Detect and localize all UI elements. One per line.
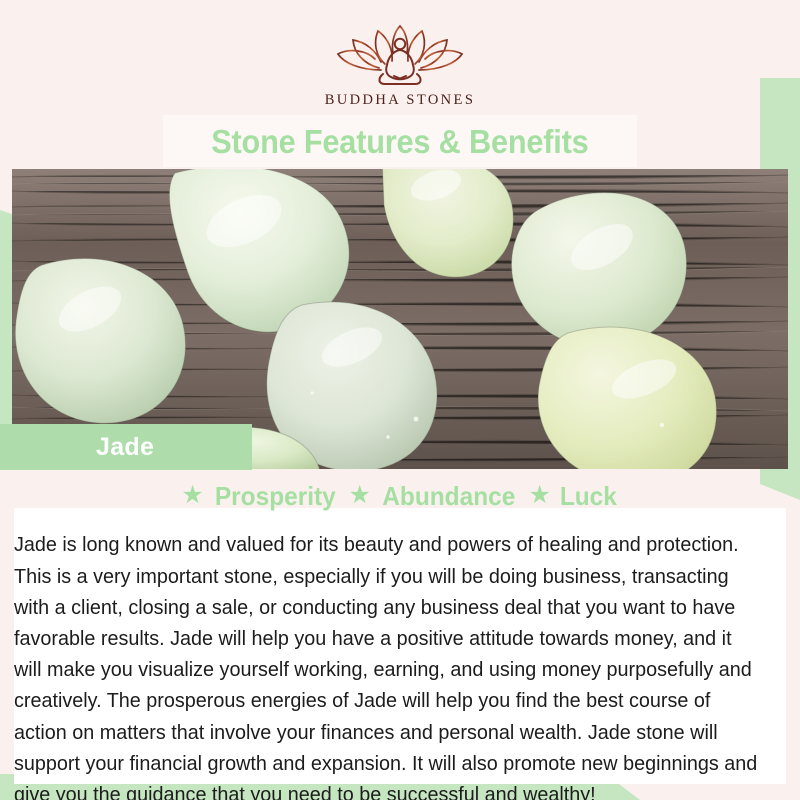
stone-name: Jade	[96, 435, 154, 460]
keyword-item: ★ Prosperity	[181, 483, 339, 509]
brand-name: BUDDHA STONES	[325, 92, 476, 109]
brand-header: BUDDHA STONES	[0, 0, 800, 120]
stone-name-band: Jade	[0, 424, 252, 470]
description-block: Jade is long known and valued for its be…	[14, 510, 786, 800]
keyword-label: Luck	[560, 483, 617, 509]
page-title-banner: Stone Features & Benefits	[163, 115, 637, 167]
star-icon: ★	[528, 483, 550, 508]
keyword-item: ★ Abundance	[348, 483, 519, 509]
keyword-item: ★ Luck	[528, 483, 618, 509]
page-title: Stone Features & Benefits	[211, 125, 588, 158]
star-icon: ★	[181, 483, 203, 508]
keyword-label: Abundance	[382, 483, 515, 509]
star-icon: ★	[348, 483, 370, 508]
stone-keywords: ★ Prosperity ★ Abundance ★ Luck	[0, 479, 800, 513]
keyword-label: Prosperity	[215, 483, 336, 509]
stone-info-poster: BUDDHA STONES	[0, 0, 800, 800]
lotus-meditation-icon	[325, 22, 475, 88]
description-text: Jade is long known and valued for its be…	[14, 530, 763, 800]
